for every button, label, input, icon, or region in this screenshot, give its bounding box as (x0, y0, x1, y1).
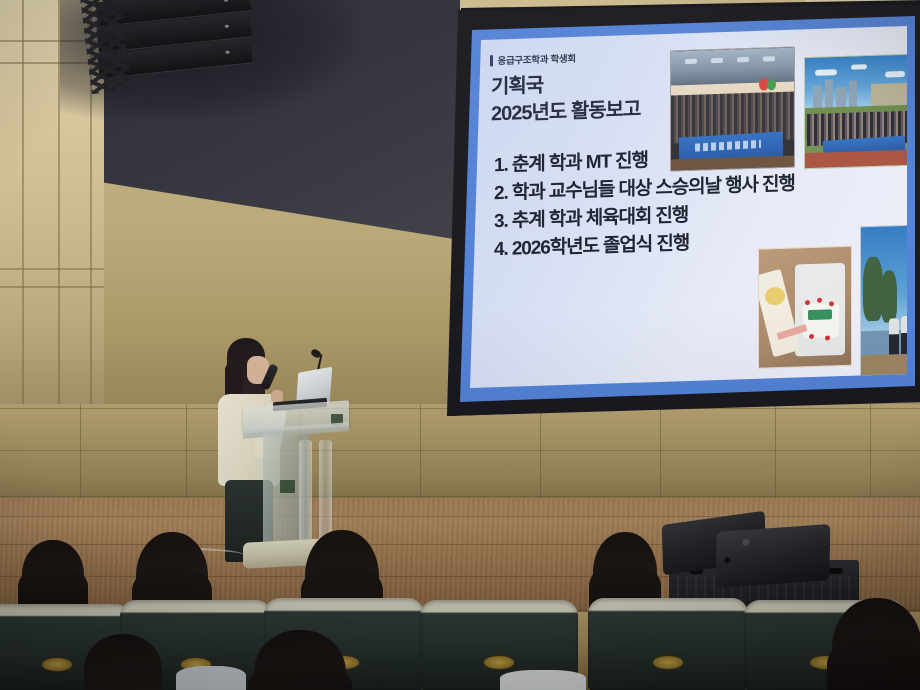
auditorium-scene: 응급구조학과 학생회 기획국 2025년도 활동보고 1. 춘계 학과 MT 진… (0, 0, 920, 690)
audience-head (22, 540, 84, 612)
audience-head (832, 598, 920, 690)
kicker-label: 응급구조학과 학생회 (498, 51, 576, 68)
audience-shoulder (176, 666, 246, 690)
audience-shoulder (500, 670, 586, 690)
graduation-ceremony-group-photo (670, 47, 795, 172)
outdoor-mt-group-photo (860, 223, 907, 376)
bullet-item: 2. 학과 교수님들 대상 스승의날 행사 진행 (494, 174, 795, 204)
sports-day-field-group-photo (804, 54, 907, 170)
bullet-item: 3. 추계 학과 체육대회 진행 (494, 202, 795, 232)
auditorium-seat[interactable] (588, 598, 748, 690)
podium-column (319, 440, 332, 544)
kicker-bar-icon (490, 55, 493, 66)
slide-title: 기획국 (491, 69, 543, 100)
slide-subtitle: 2025년도 활동보고 (491, 92, 640, 126)
podium-emblem (280, 480, 295, 493)
slide-kicker: 응급구조학과 학생회 (490, 51, 576, 68)
cake-and-bouquet-photo (758, 246, 852, 369)
bullet-item: 4. 2026학년도 졸업식 진행 (494, 230, 795, 260)
presentation-slide: 응급구조학과 학생회 기획국 2025년도 활동보고 1. 춘계 학과 MT 진… (470, 26, 907, 388)
stage-monitor-speaker (716, 524, 831, 588)
podium-column (299, 440, 312, 544)
